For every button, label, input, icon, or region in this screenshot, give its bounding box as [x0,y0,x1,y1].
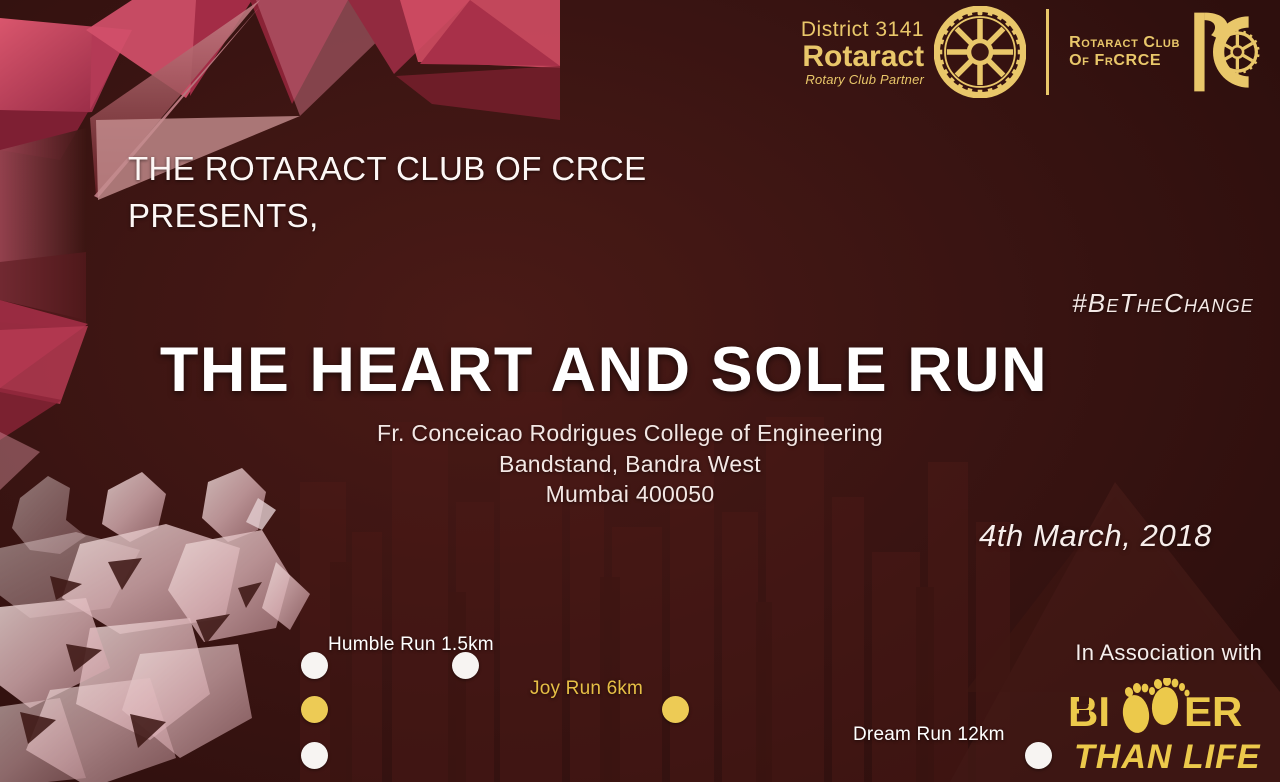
venue-line-1: Fr. Conceicao Rodrigues College of Engin… [0,418,1260,449]
club-name-line1: Rotaract Club [1069,34,1180,52]
run-knob-joy-end[interactable] [662,696,689,723]
rotaract-label: Rotaract [802,42,924,72]
presenter-block: THE ROTARACT CLUB OF CRCE PRESENTS, [128,146,647,240]
page-title: THE HEART AND SOLE RUN [0,334,1280,406]
run-knob-humble-end[interactable] [452,652,479,679]
run-knob-joy-start[interactable] [301,696,328,723]
venue-line-2: Bandstand, Bandra West [0,449,1260,480]
sponsor-name-suffix: ER [1184,688,1242,735]
run-option-dream[interactable]: Dream Run 12km [305,736,1048,776]
district-label: District 3141 [801,19,924,40]
venue-block: Fr. Conceicao Rodrigues College of Engin… [0,418,1280,510]
rotary-club-partner-label: Rotary Club Partner [805,73,924,86]
run-option-joy[interactable]: Joy Run 6km [305,690,685,730]
event-date: 4th March, 2018 [979,518,1212,554]
rotary-international-wheel-icon [934,6,1026,98]
rc-monogram-gear-icon [1190,7,1266,97]
run-categories: Humble Run 1.5km Joy Run 6km Dream Run 1… [0,644,1100,774]
presenter-line-2: PRESENTS, [128,193,647,240]
run-knob-dream-end[interactable] [1025,742,1052,769]
club-name-line2: Of FrCRCE [1069,52,1161,70]
footprints-icon [1120,678,1189,735]
run-option-humble[interactable]: Humble Run 1.5km [305,646,475,686]
poster-canvas: District 3141 Rotaract Rotary Club Partn… [0,0,1280,782]
sponsor-tagline: THAN LIFE [1074,738,1261,774]
presenter-line-1: THE ROTARACT CLUB OF CRCE [128,146,647,193]
run-label-dream: Dream Run 12km [853,724,1005,746]
header-logo-bar: District 3141 Rotaract Rotary Club Partn… [801,6,1266,98]
association-label: In Association with [1075,640,1262,666]
bigger-than-life-logo: BI ER THAN LIFE [1066,678,1266,774]
run-knob-humble-start[interactable] [301,652,328,679]
hashtag-bethechange: #BeTheChange [1072,288,1254,319]
logo-divider [1046,9,1049,95]
club-wordmark: Rotaract Club Of FrCRCE [1069,34,1180,71]
run-knob-dream-start[interactable] [301,742,328,769]
rotaract-wordmark: District 3141 Rotaract Rotary Club Partn… [801,19,924,86]
run-label-joy: Joy Run 6km [530,678,643,700]
venue-line-3: Mumbai 400050 [0,479,1260,510]
